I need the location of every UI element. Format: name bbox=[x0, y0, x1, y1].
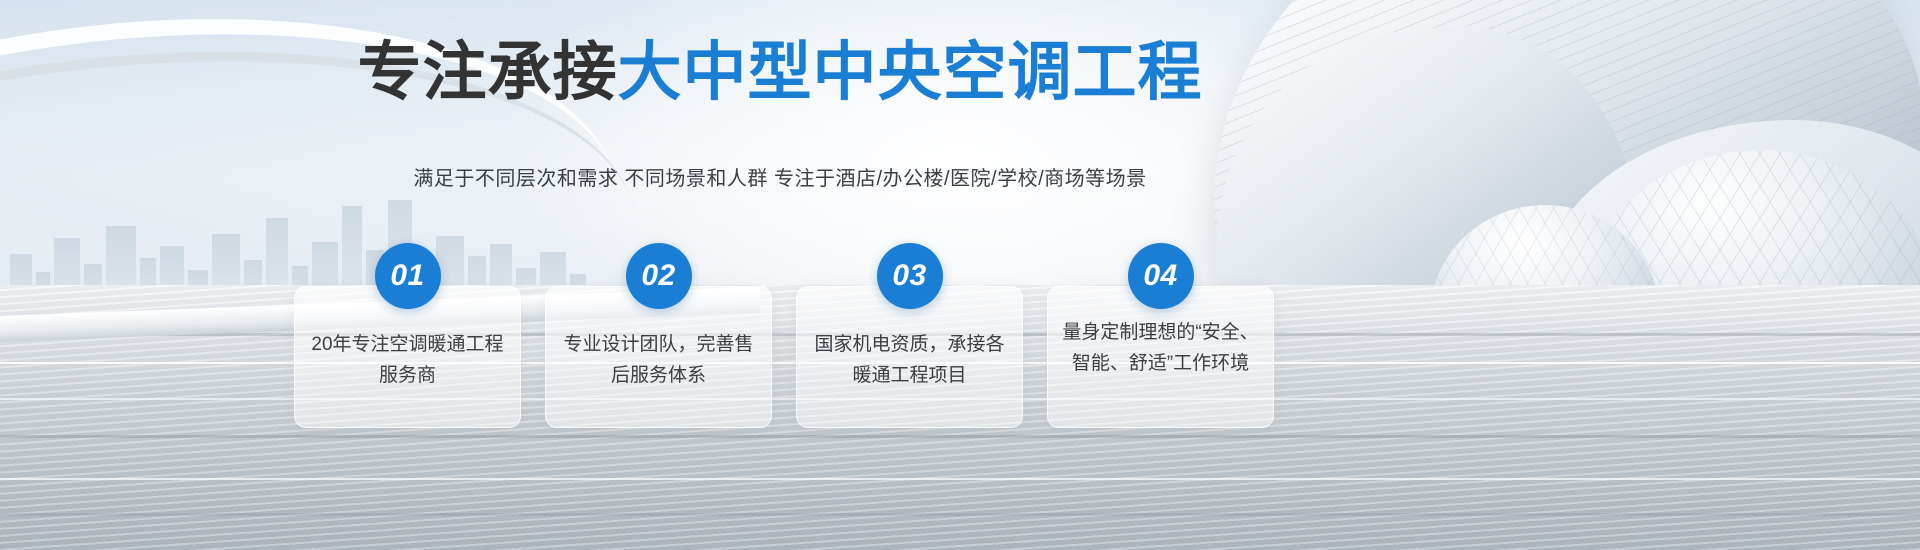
feature-card-text-01: 20年专注空调暖通工程服务商 bbox=[309, 329, 506, 392]
feature-card-text-04: 量身定制理想的“安全、智能、舒适”工作环境 bbox=[1062, 317, 1259, 380]
page-title: 专注承接大中型中央空调工程 bbox=[0, 40, 1560, 104]
hero-banner: 专注承接大中型中央空调工程 满足于不同层次和需求 不同场景和人群 专注于酒店/办… bbox=[0, 0, 1920, 550]
headline-blue-part: 大中型中央空调工程 bbox=[618, 36, 1203, 108]
feature-card-01[interactable]: 01 20年专注空调暖通工程服务商 bbox=[294, 286, 521, 428]
feature-card-03[interactable]: 03 国家机电资质，承接各暖通工程项目 bbox=[796, 286, 1023, 428]
badge-number-03: 03 bbox=[892, 261, 926, 291]
badge-circle-03: 03 bbox=[877, 243, 943, 309]
feature-card-02[interactable]: 02 专业设计团队，完善售后服务体系 bbox=[545, 286, 772, 428]
badge-number-02: 02 bbox=[641, 261, 675, 291]
feature-card-list: 01 20年专注空调暖通工程服务商 02 专业设计团队，完善售后服务体系 03 … bbox=[294, 286, 1274, 426]
badge-number-01: 01 bbox=[390, 261, 424, 291]
badge-circle-01: 01 bbox=[375, 243, 441, 309]
badge-circle-02: 02 bbox=[626, 243, 692, 309]
badge-number-04: 04 bbox=[1143, 261, 1177, 291]
feature-card-04[interactable]: 04 量身定制理想的“安全、智能、舒适”工作环境 bbox=[1047, 286, 1274, 428]
feature-card-text-03: 国家机电资质，承接各暖通工程项目 bbox=[811, 329, 1008, 392]
feature-card-text-02: 专业设计团队，完善售后服务体系 bbox=[560, 329, 757, 392]
badge-circle-04: 04 bbox=[1128, 243, 1194, 309]
headline-dark-part: 专注承接 bbox=[358, 36, 618, 108]
page-subtitle: 满足于不同层次和需求 不同场景和人群 专注于酒店/办公楼/医院/学校/商场等场景 bbox=[0, 165, 1560, 193]
